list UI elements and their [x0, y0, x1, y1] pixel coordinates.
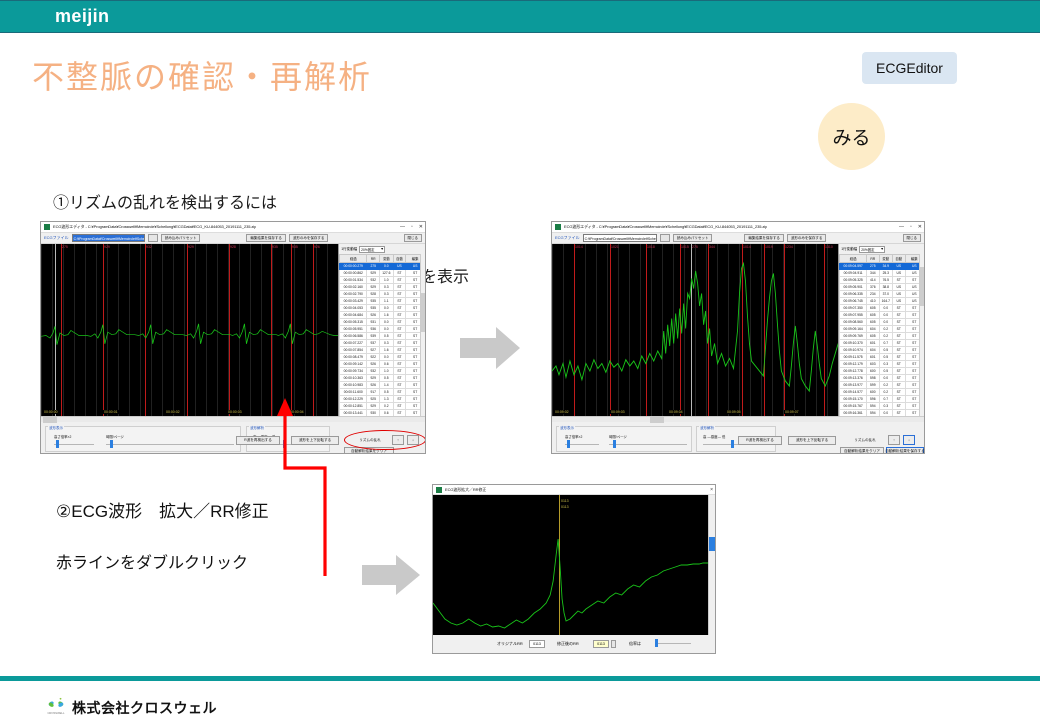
table-row[interactable]: 00:00:00.2792750.0USUS [340, 263, 425, 270]
ecg-trace-1 [41, 308, 338, 358]
ecg-waveform-pane-1[interactable]: 275 929 932 929 928 935 935 926 00:00:00… [41, 244, 338, 416]
cell-elapsed: 00:09:10.370 [840, 340, 867, 347]
cell-auto: ST [393, 403, 406, 410]
close-icon[interactable]: × [710, 486, 713, 494]
ecg-file-label: ECGファイル [555, 235, 580, 241]
cell-elapsed: 00:00:10.983 [340, 382, 367, 389]
cell-auto: ST [892, 312, 905, 319]
cell-rr: 926 [367, 382, 380, 389]
cell-variation: 0.2 [380, 403, 394, 410]
ecg-zoom-pane[interactable]: 0113 0113 [433, 495, 708, 635]
cell-rr: 414 [867, 277, 880, 284]
cell-elapsed: 00:00:00.862 [340, 270, 367, 277]
rr-list-scrollbar-2[interactable] [919, 254, 924, 416]
window2-footer[interactable]: 波形表示 高さ倍率×2 時間/ページ 波形解析 高 —感度— 低 R波を再検出す… [552, 416, 924, 454]
cell-elapsed: 00:09:07.350 [840, 305, 867, 312]
display-group-2: 波形表示 高さ倍率×2 時間/ページ [556, 426, 692, 452]
table-row[interactable]: 00:09:04.91134425.3USUS [840, 270, 924, 277]
rhythm-disorder-label-2: リズムの乱れ [847, 436, 883, 445]
table-row[interactable]: 00:09:04.59727534.9USUS [840, 263, 924, 270]
cell-auto: US [892, 284, 905, 291]
rr-list-filter-row-2[interactable]: 1行変動幅 20%固定 [839, 244, 924, 254]
ecg-hscrollbar-1[interactable] [41, 416, 425, 422]
cell-rr: 605 [867, 312, 880, 319]
cell-auto: ST [892, 389, 905, 396]
table-row[interactable]: 00:00:03.4299351.1STST [340, 298, 425, 305]
cell-rr: 936 [367, 326, 380, 333]
rr-list-pane-1[interactable]: 1行変動幅 20%固定 経過 RR 変動 自動 編集 00:00:00.2792… [338, 244, 425, 416]
table-row[interactable]: 00:00:02.1609290.3STST [340, 284, 425, 291]
cell-rr: 275 [867, 263, 880, 270]
cell-variation: 0.3 [879, 403, 892, 410]
cell-variation: 0.5 [380, 389, 394, 396]
cell-auto: ST [892, 382, 905, 389]
cell-elapsed: 00:09:05.901 [840, 284, 867, 291]
cell-elapsed: 00:00:08.479 [340, 354, 367, 361]
variation-width-label: 1行変動幅 [341, 247, 357, 252]
ecg-editor-window-1[interactable]: ECG波形エディタ - C:¥ProgramData¥Crosswell¥Mem… [40, 221, 426, 454]
cell-elapsed: 00:09:09.164 [840, 326, 867, 333]
zoom-vscrollbar[interactable] [708, 495, 715, 635]
minimize-icon[interactable]: — [899, 223, 904, 231]
window2-title: ECG波形エディタ - C:¥ProgramData¥Crosswell¥Mem… [564, 224, 767, 230]
cell-variation: 0.2 [879, 382, 892, 389]
cell-elapsed: 00:00:07.227 [340, 340, 367, 347]
table-row[interactable]: 00:09:13.9775990.2STST [840, 382, 924, 389]
cell-variation: 0.3 [380, 284, 394, 291]
cell-rr: 932 [367, 368, 380, 375]
table-row[interactable]: 00:00:04.6849261.6STST [340, 312, 425, 319]
clear-auto-result-button-2[interactable]: 自動解析結果をクリア [840, 447, 884, 454]
cell-elapsed: 00:00:11.600 [340, 389, 367, 396]
table-row[interactable]: 00:09:12.7786000.5STST [840, 368, 924, 375]
cell-elapsed: 00:00:07.854 [340, 347, 367, 354]
rr-list-scrollbar-1[interactable] [420, 254, 425, 416]
col-auto: 自動 [892, 255, 905, 263]
cell-auto: ST [393, 270, 406, 277]
logo-caption: CROSSWELL [47, 711, 65, 715]
cell-variation: 0.0 [380, 354, 394, 361]
footer-rule [0, 676, 1040, 681]
cell-variation: 0.6 [380, 361, 394, 368]
ecg-file-path-input[interactable]: C:¥ProgramData¥Crosswell¥Memcircle¥Schel… [72, 234, 145, 242]
cell-rr: 937 [367, 340, 380, 347]
cell-auto: US [892, 263, 905, 270]
col-variation: 変動 [380, 255, 394, 263]
cell-auto: ST [892, 277, 905, 284]
cell-elapsed: 00:09:12.179 [840, 361, 867, 368]
reset-button[interactable]: 読み込みパリセット [161, 234, 201, 242]
cell-auto: ST [393, 361, 406, 368]
cell-elapsed: 00:00:10.363 [340, 375, 367, 382]
cell-elapsed: 00:09:13.376 [840, 375, 867, 382]
maximize-icon[interactable]: ▫ [910, 223, 912, 231]
rr-table-2[interactable]: 経過 RR 変動 自動 編集 00:09:04.59727534.9USUS00… [839, 254, 924, 416]
cell-auto: ST [393, 389, 406, 396]
table-row[interactable]: 00:00:02.7909280.3STST [340, 291, 425, 298]
cell-variation: 1.6 [380, 312, 394, 319]
cell-variation: 76.5 [879, 277, 892, 284]
table-row[interactable]: 00:00:01.5349321.0STST [340, 277, 425, 284]
ecg-zoom-rr-window[interactable]: ECG波形拡大／RR修正 × 0113 0113 オリジナルRR 0113 修正… [432, 484, 716, 654]
cell-elapsed: 00:09:05.325 [840, 277, 867, 284]
cell-elapsed: 00:09:12.778 [840, 368, 867, 375]
corrected-rr-label: 修正後のRR [557, 641, 579, 647]
ecg-hscroll-thumb-2[interactable] [650, 417, 664, 423]
ecgeditor-chip[interactable]: ECGEditor [862, 52, 957, 84]
cell-auto: ST [393, 312, 406, 319]
sens-low-label-2: 低 [722, 435, 725, 439]
table-row[interactable]: 00:00:07.2279370.3STST [340, 340, 425, 347]
cell-variation: 0.0 [380, 305, 394, 312]
cell-elapsed: 00:00:00.279 [340, 263, 367, 270]
cell-elapsed: 00:09:14.577 [840, 389, 867, 396]
col-rr: RR [367, 255, 380, 263]
cell-elapsed: 00:09:04.597 [840, 263, 867, 270]
cell-rr: 929 [367, 375, 380, 382]
rhythm-next-button-2[interactable]: ↓ [903, 435, 915, 445]
table-row[interactable]: 00:09:09.1646040.2STST [840, 326, 924, 333]
app-icon [436, 487, 442, 493]
cell-elapsed: 00:09:15.767 [840, 403, 867, 410]
rr-table-header-row: 経過 RR 変動 自動 編集 [340, 255, 425, 263]
variation-width-select[interactable]: 20%固定 [359, 246, 385, 253]
variation-width-label: 1行変動幅 [841, 247, 857, 252]
save-wave-button[interactable]: 波形のみを保存する [289, 234, 329, 242]
window1-footer[interactable]: 波形表示 高さ倍率×2 時間/ページ 波形解析 高 —感度— 低 R波を再検出す… [41, 416, 425, 454]
window2-titlebar: ECG波形エディタ - C:¥ProgramData¥Crosswell¥Mem… [552, 222, 924, 233]
cell-variation: 0.5 [380, 375, 394, 382]
table-row[interactable]: 00:09:15.7675940.3STST [840, 403, 924, 410]
company-name: 株式会社クロスウェル [72, 698, 217, 718]
cell-rr: 594 [867, 403, 880, 410]
corrected-rr-stepper[interactable] [611, 640, 616, 648]
cell-elapsed: 00:09:15.170 [840, 396, 867, 403]
cell-variation: 1.0 [380, 368, 394, 375]
cell-variation: 0.7 [879, 396, 892, 403]
table-row[interactable]: 00:09:14.5776000.2STST [840, 389, 924, 396]
miru-badge: みる [818, 103, 885, 170]
cell-auto: ST [393, 340, 406, 347]
app-icon [44, 224, 50, 230]
cell-rr: 935 [367, 305, 380, 312]
rr-list-scroll-thumb-2[interactable] [920, 267, 924, 306]
ecg-waveform-pane-2[interactable]: 1014 1021 1018 1015 275 344 1014 1019 12… [552, 244, 838, 416]
cell-rr: 922 [367, 354, 380, 361]
cell-rr: 929 [367, 270, 380, 277]
cell-auto: ST [393, 326, 406, 333]
ecg-hscrollbar-2[interactable] [552, 416, 924, 422]
cell-auto: ST [393, 354, 406, 361]
cell-auto: US [892, 270, 905, 277]
cell-variation: 1.3 [380, 396, 394, 403]
cell-rr: 605 [867, 305, 880, 312]
cell-auto: US [892, 291, 905, 298]
save-auto-result-button-2[interactable]: 自動解析結果を保存する [886, 447, 924, 454]
cell-auto: ST [393, 277, 406, 284]
rr-list-pane-2[interactable]: 1行変動幅 20%固定 経過 RR 変動 自動 編集 00:09:04.5972… [838, 244, 924, 416]
cell-rr: 928 [367, 291, 380, 298]
cell-auto: ST [892, 347, 905, 354]
table-row[interactable]: 00:09:15.1705960.7STST [840, 396, 924, 403]
browse-button[interactable] [660, 234, 670, 242]
step2-hint: 赤ラインをダブルクリック [56, 549, 248, 573]
speed-slider-label-1: 時間/ページ [106, 434, 124, 439]
cell-rr: 596 [867, 396, 880, 403]
cell-rr: 234 [867, 291, 880, 298]
close-button[interactable]: 閉じる [903, 234, 922, 242]
step2-title: ②ECG波形 拡大／RR修正 [56, 497, 269, 522]
cell-rr: 605 [867, 333, 880, 340]
window2-toolbar[interactable]: ECGファイル C:¥ProgramData¥Crosswell¥Memcirc… [552, 233, 924, 244]
table-row[interactable]: 00:09:10.9746040.5STST [840, 347, 924, 354]
window3-controls[interactable]: × [710, 486, 713, 494]
red-callout-arrow [255, 398, 345, 578]
cell-variation: 0.5 [879, 368, 892, 375]
rr-table-body-2[interactable]: 00:09:04.59727534.9USUS00:09:04.91134425… [840, 263, 924, 417]
cell-variation: 1.0 [380, 277, 394, 284]
app-header: meijin [0, 0, 1040, 33]
save-wave-button[interactable]: 波形のみを保存する [787, 234, 827, 242]
maximize-icon[interactable]: ▫ [411, 223, 413, 231]
cell-auto: ST [393, 396, 406, 403]
table-row[interactable]: 00:00:09.7349321.0STST [340, 368, 425, 375]
table-row[interactable]: 00:09:10.3706010.7STST [840, 340, 924, 347]
cell-rr: 410 [867, 298, 880, 305]
cell-rr: 344 [867, 270, 880, 277]
window1-toolbar[interactable]: ECGファイル C:¥ProgramData¥Crosswell¥Memcirc… [41, 233, 425, 244]
cell-auto: ST [892, 375, 905, 382]
cell-rr: 929 [367, 403, 380, 410]
cell-auto: ST [393, 305, 406, 312]
cell-rr: 601 [867, 354, 880, 361]
sens-mid-label-2: 感度 [711, 435, 718, 439]
window1-body: 275 929 932 929 928 935 935 926 00:00:00… [41, 244, 425, 416]
table-row[interactable]: 00:09:09.7696050.2STST [840, 333, 924, 340]
close-icon[interactable]: ✕ [918, 223, 922, 231]
rr-table-body-1[interactable]: 00:00:00.2792750.0USUS00:00:00.862929127… [340, 263, 425, 417]
window2-body: 1014 1021 1018 1015 275 344 1014 1019 12… [552, 244, 924, 416]
cell-rr: 926 [367, 361, 380, 368]
cell-elapsed: 00:00:01.534 [340, 277, 367, 284]
col-rr: RR [867, 255, 880, 263]
zoom-vscroll-thumb[interactable] [709, 537, 716, 551]
cell-auto: ST [892, 368, 905, 375]
instruction-line-1: ①リズムの乱れを検出するには [53, 192, 469, 217]
cell-variation: 0.0 [879, 312, 892, 319]
app-icon [555, 224, 561, 230]
cell-variation: 0.0 [879, 319, 892, 326]
cell-rr: 603 [867, 361, 880, 368]
cell-elapsed: 00:00:04.053 [340, 305, 367, 312]
cell-elapsed: 00:09:06.335 [840, 291, 867, 298]
crosswell-logo-icon: CROSSWELL [45, 696, 67, 716]
cell-elapsed: 00:00:05.951 [340, 326, 367, 333]
arrow-right-icon-1 [460, 325, 522, 371]
table-row[interactable]: 00:09:05.90137638.8USUS [840, 284, 924, 291]
cell-variation: 164.7 [879, 298, 892, 305]
cell-elapsed: 00:09:08.560 [840, 319, 867, 326]
original-rr-label: オリジナルRR [497, 641, 523, 647]
window1-titlebar: ECG波形エディタ - C:¥ProgramData¥Crosswell¥Mem… [41, 222, 425, 233]
cell-elapsed: 00:00:09.734 [340, 368, 367, 375]
cell-auto: ST [892, 319, 905, 326]
cell-variation: 34.9 [879, 263, 892, 270]
cell-variation: 0.0 [380, 263, 394, 270]
cell-variation: 0.0 [380, 326, 394, 333]
brand-label: meijin [55, 6, 109, 27]
cell-auto: ST [393, 375, 406, 382]
cell-variation: 0.3 [380, 291, 394, 298]
cell-variation: 0.2 [879, 389, 892, 396]
table-row[interactable]: 00:00:05.9519360.0STST [340, 326, 425, 333]
rhythm-prev-button-2[interactable]: ↑ [888, 435, 900, 445]
table-row[interactable]: 00:09:06.745410164.7USUS [840, 298, 924, 305]
cell-variation: 0.0 [879, 305, 892, 312]
cell-auto: ST [393, 382, 406, 389]
rr-list-scroll-thumb-1[interactable] [421, 293, 425, 332]
cell-elapsed: 00:09:10.974 [840, 347, 867, 354]
cell-variation: 0.0 [380, 319, 394, 326]
gain-slider-label-1: 高さ倍率×2 [54, 434, 71, 439]
cell-auto: ST [892, 305, 905, 312]
cell-auto: ST [393, 333, 406, 340]
browse-button[interactable] [148, 234, 158, 242]
ecg-trace-2 [552, 256, 838, 406]
table-row[interactable]: 00:00:04.0539350.0STST [340, 305, 425, 312]
cell-rr: 939 [367, 333, 380, 340]
analysis-group-label-2: 波形解析 [699, 426, 715, 431]
table-row[interactable]: 00:00:06.5869390.5STST [340, 333, 425, 340]
cell-elapsed: 00:00:09.142 [340, 361, 367, 368]
original-rr-value: 0113 [529, 640, 545, 648]
cell-auto: ST [393, 347, 406, 354]
display-group-1: 波形表示 高さ倍率×2 時間/ページ [45, 426, 241, 452]
corrected-rr-input[interactable]: 0113 [593, 640, 609, 648]
table-row[interactable]: 00:09:06.33523437.0USUS [840, 291, 924, 298]
cell-auto: ST [393, 368, 406, 375]
table-row[interactable]: 00:00:12.2299251.3STST [340, 396, 425, 403]
ecg-editor-window-2[interactable]: ECG波形エディタ - C:¥ProgramData¥Crosswell¥Mem… [551, 221, 925, 454]
ecg-hscroll-thumb-1[interactable] [43, 417, 57, 423]
window1-title: ECG波形エディタ - C:¥ProgramData¥Crosswell¥Mem… [53, 224, 256, 230]
ecg-file-path-input[interactable]: C:¥ProgramData¥Crosswell¥Memcircle¥Schel… [583, 234, 657, 242]
table-row[interactable]: 00:00:10.3639290.5STST [340, 375, 425, 382]
cell-variation: 0.7 [879, 340, 892, 347]
window1-controls[interactable]: — ▫ ✕ [400, 223, 423, 231]
col-elapsed: 経過 [840, 255, 867, 263]
cell-elapsed: 00:00:03.429 [340, 298, 367, 305]
cell-elapsed: 00:09:04.911 [840, 270, 867, 277]
cell-elapsed: 00:09:09.769 [840, 333, 867, 340]
cell-elapsed: 00:00:04.684 [340, 312, 367, 319]
cell-auto: ST [393, 319, 406, 326]
cell-variation: 0.0 [879, 375, 892, 382]
window3-titlebar: ECG波形拡大／RR修正 × [433, 485, 715, 495]
save-edit-button[interactable]: 編集結果を保存する [744, 234, 784, 242]
invert-waveform-button-2[interactable]: 波形を上下反転する [788, 436, 836, 445]
sensitivity-caption-2: 高 —感度— 低 [703, 434, 725, 439]
close-button[interactable]: 閉じる [404, 234, 423, 242]
table-row[interactable]: 00:09:12.1796030.3STST [840, 361, 924, 368]
table-row[interactable]: 00:09:07.9556050.0STST [840, 312, 924, 319]
cell-auto: ST [393, 298, 406, 305]
col-variation: 変動 [879, 255, 892, 263]
cell-rr: 601 [867, 340, 880, 347]
table-row[interactable]: 00:09:07.3506050.0STST [840, 305, 924, 312]
cell-variation: 1.1 [380, 298, 394, 305]
table-row[interactable]: 00:00:11.6009170.5STST [340, 389, 425, 396]
cell-auto: US [892, 298, 905, 305]
rr-table-1[interactable]: 経過 RR 変動 自動 編集 00:00:00.2792750.0USUS00:… [339, 254, 425, 416]
table-row[interactable]: 00:00:12.8519290.2STST [340, 403, 425, 410]
cell-rr: 598 [867, 375, 880, 382]
cell-elapsed: 00:09:13.977 [840, 382, 867, 389]
cell-variation: 0.5 [879, 354, 892, 361]
table-row[interactable]: 00:00:10.9839261.4STST [340, 382, 425, 389]
table-row[interactable]: 00:00:00.862929127.6STST [340, 270, 425, 277]
table-row[interactable]: 00:00:09.1429260.6STST [340, 361, 425, 368]
cell-rr: 600 [867, 389, 880, 396]
table-row[interactable]: 00:00:08.4799220.0STST [340, 354, 425, 361]
cell-rr: 604 [867, 347, 880, 354]
rhythm-control-highlight [344, 430, 426, 450]
cell-variation: 0.2 [879, 326, 892, 333]
rr-table-header-row: 経過 RR 変動 自動 編集 [840, 255, 924, 263]
col-elapsed: 経過 [340, 255, 367, 263]
minimize-icon[interactable]: — [400, 223, 405, 231]
cell-variation: 38.8 [879, 284, 892, 291]
cell-elapsed: 00:00:05.315 [340, 319, 367, 326]
window2-controls[interactable]: — ▫ ✕ [899, 223, 922, 231]
cell-rr: 932 [367, 277, 380, 284]
cell-auto: ST [892, 340, 905, 347]
cell-elapsed: 00:00:06.586 [340, 333, 367, 340]
cell-auto: ST [892, 361, 905, 368]
cell-rr: 917 [367, 389, 380, 396]
cell-variation: 0.5 [879, 347, 892, 354]
close-icon[interactable]: ✕ [419, 223, 423, 231]
page-title: 不整脈の確認・再解析 [32, 52, 372, 98]
cell-variation: 0.3 [879, 361, 892, 368]
gain-slider-label-2: 高さ倍率×2 [565, 434, 582, 439]
save-edit-button[interactable]: 編集結果を保存する [246, 234, 286, 242]
cell-rr: 376 [867, 284, 880, 291]
reanalyze-button-2[interactable]: R波を再検出する [738, 436, 782, 445]
table-row[interactable]: 00:09:05.32541476.5STST [840, 277, 924, 284]
table-row[interactable]: 00:09:13.3765980.0STST [840, 375, 924, 382]
table-row[interactable]: 00:00:07.8549271.6STST [340, 347, 425, 354]
variation-width-select[interactable]: 20%固定 [859, 246, 885, 253]
cell-auto: ST [892, 354, 905, 361]
cell-variation: 127.6 [380, 270, 394, 277]
cell-variation: 1.4 [380, 382, 394, 389]
cell-variation: 25.3 [879, 270, 892, 277]
cell-rr: 935 [367, 298, 380, 305]
cell-variation: 0.3 [380, 340, 394, 347]
table-row[interactable]: 00:00:05.3159310.0STST [340, 319, 425, 326]
table-row[interactable]: 00:09:11.5756010.5STST [840, 354, 924, 361]
cell-rr: 604 [867, 326, 880, 333]
reset-button[interactable]: 読み込みパリセット [673, 234, 713, 242]
table-row[interactable]: 00:09:08.5606050.0STST [840, 319, 924, 326]
window3-footer[interactable]: オリジナルRR 0113 修正後のRR 0113 倍率は 適用する キャンセル [433, 635, 715, 654]
zoom-factor-label: 倍率は [629, 641, 641, 647]
cell-variation: 0.2 [879, 333, 892, 340]
cell-rr: 929 [367, 284, 380, 291]
rr-list-filter-row-1[interactable]: 1行変動幅 20%固定 [339, 244, 425, 254]
cell-auto: ST [892, 333, 905, 340]
